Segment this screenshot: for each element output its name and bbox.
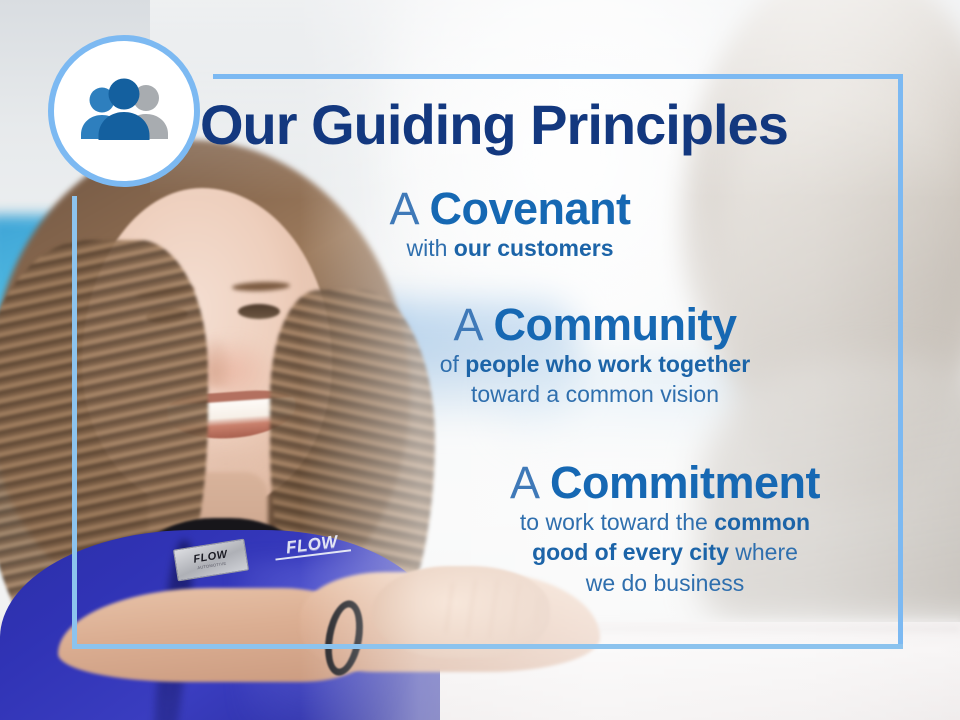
frame-border-right [898,74,903,649]
page-title: Our Guiding Principles [200,92,900,157]
subtext-line: to work toward the common [440,507,890,537]
people-icon-badge [48,35,200,187]
principle-commitment: A Commitment to work toward the commongo… [440,460,890,598]
subtext-line: with our customers [330,233,690,263]
principle-covenant-subtext: with our customers [330,233,690,263]
principle-community-subtext: of people who work togethertoward a comm… [385,349,805,410]
subtext-line: we do business [440,568,890,598]
principle-community-keyword: Community [494,299,737,350]
principle-commitment-heading: A Commitment [440,460,890,507]
principle-covenant-keyword: Covenant [430,183,631,234]
guiding-principles-graphic: FLOW AUTOMOTIVE FLOW Our Guid [0,0,960,720]
principle-commitment-article: A [510,457,538,508]
principle-commitment-subtext: to work toward the commongood of every c… [440,507,890,598]
principle-community-article: A [453,299,481,350]
frame-border-left [72,196,77,649]
principle-covenant-article: A [389,183,417,234]
subtext-line: of people who work together [385,349,805,379]
frame-border-bottom [72,644,903,649]
principle-covenant-heading: A Covenant [330,186,690,233]
principle-community-heading: A Community [385,302,805,349]
group-of-people-icon [76,76,172,146]
employee-eye-right [238,304,280,319]
principle-community: A Community of people who work togethert… [385,302,805,410]
principle-commitment-keyword: Commitment [550,457,820,508]
subtext-line: good of every city where [440,537,890,567]
principle-covenant: A Covenant with our customers [330,186,690,263]
subtext-line: toward a common vision [385,379,805,409]
frame-border-top [213,74,903,79]
